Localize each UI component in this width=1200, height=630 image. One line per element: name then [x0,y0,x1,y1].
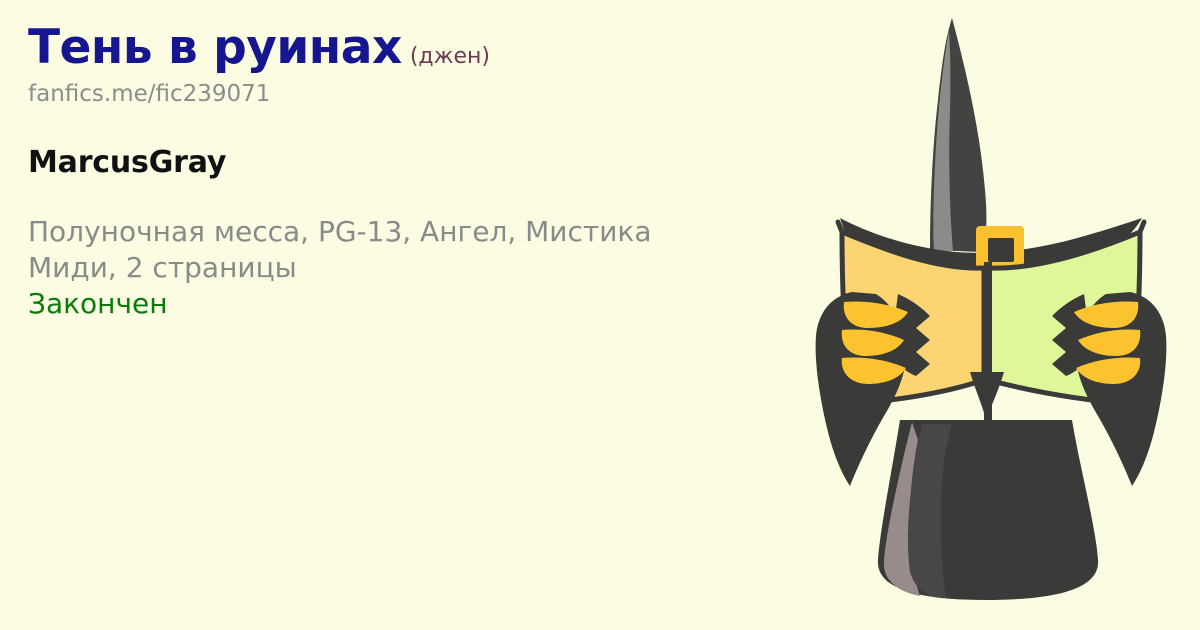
fic-size-line: Миди, 2 страницы [28,250,728,286]
fic-tags-line: Полуночная месса, PG-13, Ангел, Мистика [28,214,734,250]
text-column: Тень в руинах(джен) fanfics.me/fic239071… [28,24,788,321]
status-badge: Закончен [28,286,788,322]
meta-block: Полуночная месса, PG-13, Ангел, Мистика … [28,214,788,321]
author-name: MarcusGray [28,145,788,180]
source-url: fanfics.me/fic239071 [28,81,788,107]
pointed-hat [840,18,1142,285]
wizard-reading-book-illustration [780,0,1200,630]
title-row: Тень в руинах(джен) [28,24,788,71]
page-title: Тень в руинах [28,20,402,75]
robe-shape [878,420,1098,600]
fic-category-label: (джен) [410,44,490,69]
fanfic-preview-card: Тень в руинах(джен) fanfics.me/fic239071… [0,0,1200,630]
